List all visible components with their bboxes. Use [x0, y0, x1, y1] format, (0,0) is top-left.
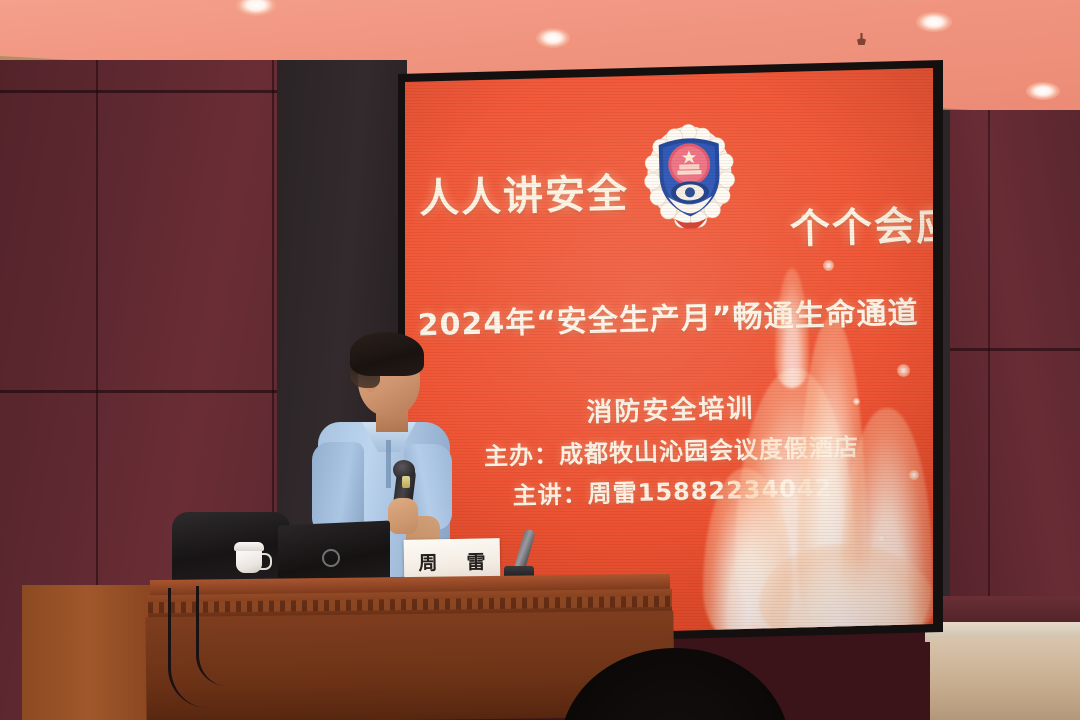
presenter-shirt-placket — [386, 440, 391, 488]
wall-seam — [950, 348, 1080, 351]
slide-headline: 2024年“安全生产月”畅通生命通道 — [405, 287, 933, 344]
dell-logo-icon — [322, 549, 340, 567]
slogan-left: 人人讲安全 — [418, 161, 629, 224]
ember-particle — [877, 534, 886, 543]
ember-particle — [897, 364, 910, 377]
presenter-left-sleeve — [312, 442, 364, 534]
ceiling-downlight — [536, 28, 570, 48]
presentation-photo-scene: 人人讲安全 — [0, 0, 1080, 720]
presenter-hand — [388, 498, 418, 534]
wall-seam — [0, 390, 300, 393]
wall-seam — [988, 110, 990, 640]
nameplate-surname: 周 — [418, 548, 437, 575]
right-wall-panels — [950, 110, 1080, 640]
wall-seam — [0, 90, 300, 93]
ember-particle — [801, 214, 808, 221]
power-cable — [196, 586, 227, 686]
podium-side-panel — [22, 585, 154, 720]
slogan-right: 个个会应急 — [789, 192, 933, 255]
china-police-badge-icon — [642, 121, 737, 233]
ember-particle — [853, 398, 860, 405]
ceiling-downlight — [1026, 82, 1060, 100]
ember-particle — [823, 260, 834, 271]
ember-particle — [871, 306, 879, 314]
office-chair — [172, 512, 290, 584]
ember-particle — [909, 470, 919, 480]
floor — [930, 638, 1080, 720]
presenter-hair — [350, 332, 424, 376]
teacup-lid — [234, 542, 264, 551]
nameplate-given-name: 雷 — [466, 547, 485, 574]
lapel-badge-icon — [402, 476, 410, 488]
ceiling-downlight — [916, 12, 952, 32]
